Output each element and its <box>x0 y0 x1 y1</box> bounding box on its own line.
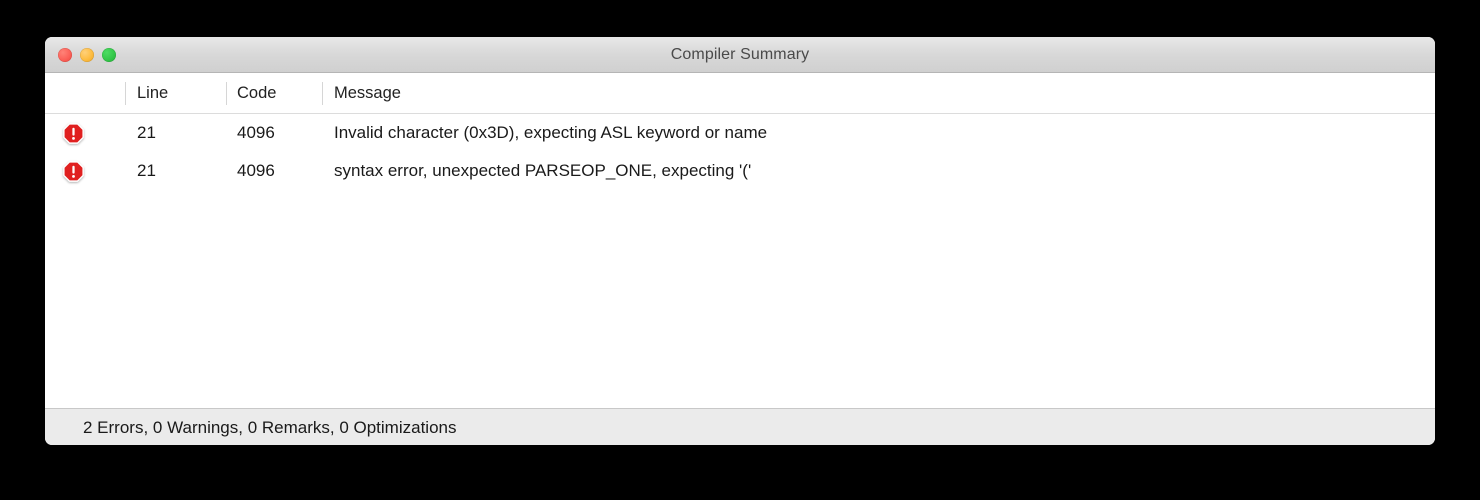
column-header-code[interactable]: Code <box>237 73 276 113</box>
status-bar: 2 Errors, 0 Warnings, 0 Remarks, 0 Optim… <box>45 408 1435 445</box>
title-bar[interactable]: Compiler Summary <box>45 37 1435 73</box>
row-line-number: 21 <box>137 114 156 152</box>
table-column-headers: Line Code Message <box>45 73 1435 114</box>
row-code: 4096 <box>237 152 275 190</box>
column-divider-3[interactable] <box>322 82 323 105</box>
compiler-summary-window: Compiler Summary Line Code Message 21 40… <box>45 37 1435 445</box>
table-row[interactable]: 21 4096 syntax error, unexpected PARSEOP… <box>45 152 1435 190</box>
traffic-lights <box>58 37 116 72</box>
column-divider-1[interactable] <box>125 82 126 105</box>
row-message: Invalid character (0x3D), expecting ASL … <box>334 114 767 152</box>
status-summary-text: 2 Errors, 0 Warnings, 0 Remarks, 0 Optim… <box>83 418 457 438</box>
minimize-window-button[interactable] <box>80 48 94 62</box>
close-window-button[interactable] <box>58 48 72 62</box>
row-message: syntax error, unexpected PARSEOP_ONE, ex… <box>334 152 751 190</box>
column-header-message[interactable]: Message <box>334 73 401 113</box>
maximize-window-button[interactable] <box>102 48 116 62</box>
row-line-number: 21 <box>137 152 156 190</box>
severity-cell <box>53 114 93 152</box>
table-row[interactable]: 21 4096 Invalid character (0x3D), expect… <box>45 114 1435 152</box>
diagnostics-list[interactable]: 21 4096 Invalid character (0x3D), expect… <box>45 114 1435 408</box>
column-header-line[interactable]: Line <box>137 73 168 113</box>
column-divider-2[interactable] <box>226 82 227 105</box>
error-octagon-icon <box>63 161 84 182</box>
severity-cell <box>53 152 93 190</box>
window-title: Compiler Summary <box>45 46 1435 64</box>
error-octagon-icon <box>63 123 84 144</box>
row-code: 4096 <box>237 114 275 152</box>
